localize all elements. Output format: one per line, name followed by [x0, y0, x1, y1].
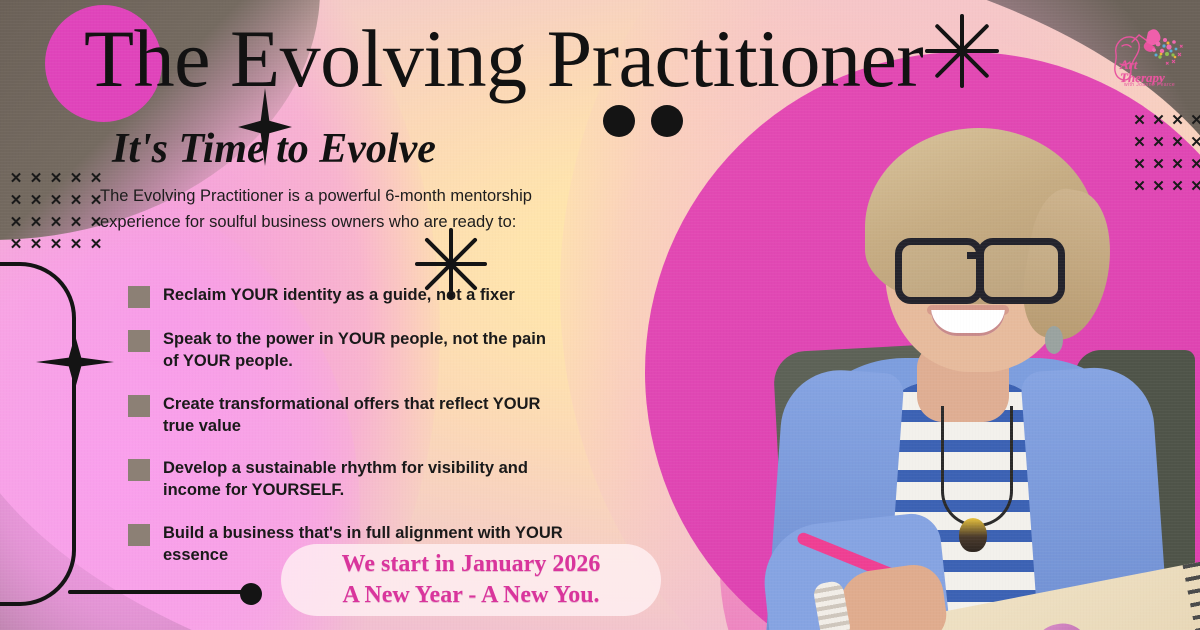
list-item: Create transformational offers that refl…: [128, 393, 598, 438]
list-item: Reclaim YOUR identity as a guide, not a …: [128, 284, 598, 308]
x-mark-icon: ✕: [6, 234, 26, 256]
page-title: The Evolving Practitioner: [84, 18, 923, 100]
starburst-ray: [451, 262, 487, 266]
x-mark-icon: ✕: [66, 190, 86, 212]
list-item-label: Reclaim YOUR identity as a guide, not a …: [163, 284, 515, 306]
x-mark-icon: ✕: [46, 190, 66, 212]
x-mark-icon: ✕: [1149, 176, 1168, 198]
starburst-ray: [961, 50, 990, 79]
x-mark-icon: ✕: [66, 234, 86, 256]
logo-tagline: with Joanne Pearce: [1124, 82, 1175, 88]
x-mark-icon: ✕: [26, 190, 46, 212]
x-pattern-right: ✕✕✕✕✕✕✕✕✕✕✕✕✕✕✕✕: [1130, 110, 1200, 198]
necklace-pendant: [959, 518, 987, 552]
decorative-dot-two: [651, 105, 683, 137]
connector-line-tail: [68, 590, 254, 594]
cta-line-one: We start in January 2026: [342, 549, 601, 580]
starburst-ray: [962, 49, 999, 53]
x-mark-icon: ✕: [1168, 154, 1187, 176]
glasses-left-lens: [895, 238, 983, 304]
x-mark-icon: ✕: [1130, 176, 1149, 198]
logo-wordmark: Art Therapy: [1120, 58, 1165, 84]
art-therapy-logo: Art Therapy with Joanne Pearce: [1106, 24, 1188, 90]
x-mark-icon: ✕: [26, 234, 46, 256]
list-item-label: Speak to the power in YOUR people, not t…: [163, 328, 563, 373]
start-date-banner: We start in January 2026 A New Year - A …: [281, 544, 661, 616]
earring: [1045, 326, 1063, 354]
decorative-dot-one: [603, 105, 635, 137]
bullet-square-icon: [128, 524, 150, 546]
x-mark-icon: ✕: [1149, 132, 1168, 154]
starburst-ray: [960, 51, 964, 88]
list-item: Develop a sustainable rhythm for visibil…: [128, 457, 598, 502]
x-mark-icon: ✕: [6, 212, 26, 234]
bullet-square-icon: [128, 330, 150, 352]
x-mark-icon: ✕: [1149, 154, 1168, 176]
starburst-ray: [415, 262, 451, 266]
x-pattern-left: ✕✕✕✕✕✕✕✕✕✕✕✕✕✕✕✕✕✕✕✕: [6, 168, 106, 256]
x-mark-icon: ✕: [1187, 154, 1200, 176]
x-mark-icon: ✕: [1187, 132, 1200, 154]
x-mark-icon: ✕: [1187, 176, 1200, 198]
x-mark-icon: ✕: [46, 234, 66, 256]
x-mark-icon: ✕: [6, 168, 26, 190]
x-mark-icon: ✕: [1168, 132, 1187, 154]
x-mark-icon: ✕: [1130, 110, 1149, 132]
x-mark-icon: ✕: [66, 212, 86, 234]
intro-paragraph: The Evolving Practitioner is a powerful …: [100, 184, 570, 235]
x-mark-icon: ✕: [1187, 110, 1200, 132]
x-mark-icon: ✕: [26, 212, 46, 234]
glasses-right-lens: [977, 238, 1065, 304]
page-subtitle: It's Time to Evolve: [112, 128, 436, 170]
x-mark-icon: ✕: [46, 212, 66, 234]
x-mark-icon: ✕: [6, 190, 26, 212]
connector-line-curve: [0, 262, 76, 606]
poster-canvas: ✕✕✕✕✕✕✕✕✕✕✕✕✕✕✕✕✕✕✕✕ ✕✕✕✕✕✕✕✕✕✕✕✕✕✕✕✕ Th…: [0, 0, 1200, 630]
bullet-square-icon: [128, 395, 150, 417]
starburst-icon-top-right: [925, 14, 999, 88]
benefits-list: Reclaim YOUR identity as a guide, not a …: [128, 284, 598, 586]
list-item: Speak to the power in YOUR people, not t…: [128, 328, 598, 373]
bullet-square-icon: [128, 459, 150, 481]
list-item-label: Develop a sustainable rhythm for visibil…: [163, 457, 563, 502]
connector-line-end-dot: [240, 583, 262, 605]
x-mark-icon: ✕: [46, 168, 66, 190]
x-mark-icon: ✕: [86, 234, 106, 256]
x-mark-icon: ✕: [1168, 176, 1187, 198]
x-mark-icon: ✕: [1130, 132, 1149, 154]
starburst-ray: [925, 49, 962, 53]
necklace-cord: [941, 406, 1013, 527]
x-mark-icon: ✕: [1130, 154, 1149, 176]
bullet-square-icon: [128, 286, 150, 308]
x-mark-icon: ✕: [26, 168, 46, 190]
list-item-label: Create transformational offers that refl…: [163, 393, 563, 438]
sketch-shape-purple: [1029, 619, 1095, 630]
glasses-bridge: [967, 252, 981, 259]
x-mark-icon: ✕: [1168, 110, 1187, 132]
x-mark-icon: ✕: [66, 168, 86, 190]
cta-line-two: A New Year - A New You.: [342, 580, 599, 611]
sketchbook-spiral-binding: [1183, 560, 1200, 630]
x-mark-icon: ✕: [1149, 110, 1168, 132]
